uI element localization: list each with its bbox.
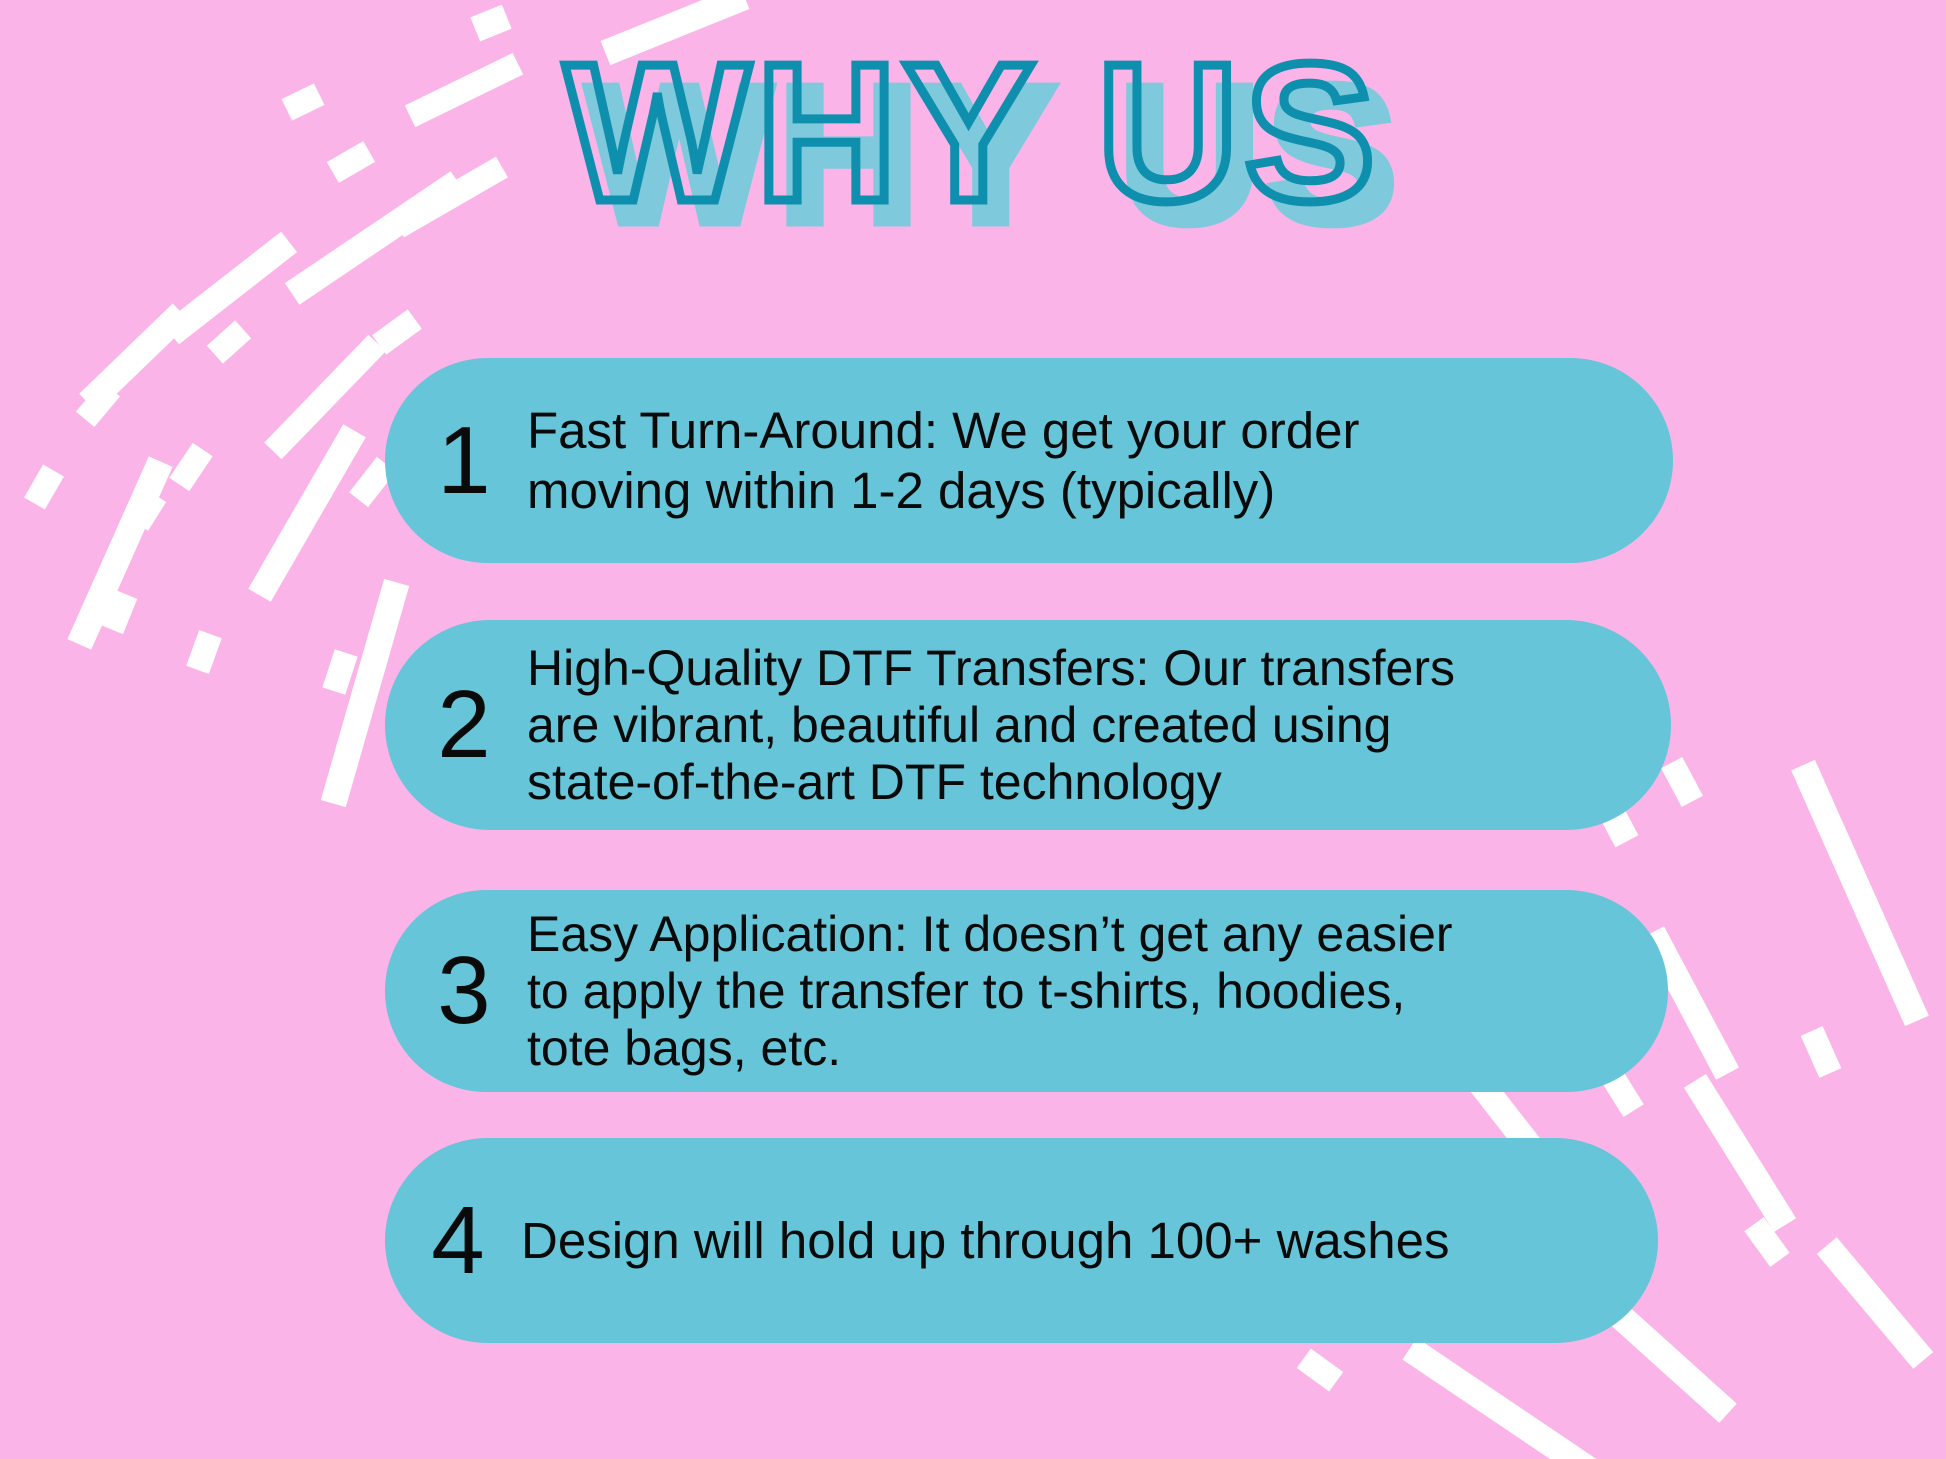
benefit-card-3: 3 Easy Application: It doesn’t get any e… <box>385 890 1668 1092</box>
decorative-dash <box>1817 1237 1933 1369</box>
benefit-card-4: 4 Design will hold up through 100+ washe… <box>385 1138 1658 1343</box>
decorative-dash <box>405 53 523 127</box>
benefit-card-1: 1 Fast Turn-Around: We get your order mo… <box>385 358 1673 563</box>
benefit-card-text: Design will hold up through 100+ washes <box>521 1211 1658 1270</box>
decorative-dash <box>372 309 422 354</box>
decorative-dash <box>285 171 465 304</box>
decorative-dash <box>322 649 357 694</box>
decorative-dash <box>169 443 212 491</box>
title-outline-layer: WHY US <box>565 38 1381 228</box>
decorative-dash <box>470 5 511 42</box>
decorative-dash <box>264 335 385 460</box>
decorative-dash <box>248 424 366 602</box>
decorative-dash <box>327 141 375 183</box>
decorative-dash <box>1402 1338 1607 1459</box>
decorative-dash <box>163 232 297 345</box>
decorative-dash <box>128 489 166 531</box>
poster-canvas: WHY US WHY US 1 Fast Turn-Around: We get… <box>0 0 1946 1459</box>
decorative-dash <box>76 381 120 427</box>
decorative-dash <box>79 303 191 412</box>
decorative-dash <box>24 465 64 510</box>
benefit-card-number: 2 <box>421 677 507 773</box>
benefit-card-number: 3 <box>421 943 507 1039</box>
decorative-dash <box>1801 1026 1842 1078</box>
benefit-card-number: 1 <box>421 413 507 509</box>
decorative-dash <box>186 630 222 674</box>
decorative-dash <box>101 590 137 634</box>
title-shadow-layer: WHY US <box>587 60 1403 250</box>
decorative-dash <box>601 0 750 65</box>
decorative-dash <box>282 83 325 120</box>
decorative-dash <box>392 157 508 238</box>
benefit-card-2: 2 High-Quality DTF Transfers: Our transf… <box>385 620 1671 830</box>
decorative-dash <box>67 456 172 649</box>
benefit-card-text: Fast Turn-Around: We get your order movi… <box>527 401 1673 519</box>
decorative-dash <box>1744 1217 1789 1267</box>
benefit-card-text: High-Quality DTF Transfers: Our transfer… <box>527 640 1671 811</box>
decorative-dash <box>1791 760 1929 1026</box>
benefit-card-number: 4 <box>415 1193 501 1289</box>
decorative-dash <box>1684 1074 1796 1232</box>
benefit-card-text: Easy Application: It doesn’t get any eas… <box>527 906 1668 1077</box>
title-stack: WHY US WHY US <box>565 38 1381 228</box>
decorative-dash <box>207 320 251 363</box>
decorative-dash <box>1297 1349 1343 1392</box>
page-title: WHY US WHY US <box>0 38 1946 228</box>
